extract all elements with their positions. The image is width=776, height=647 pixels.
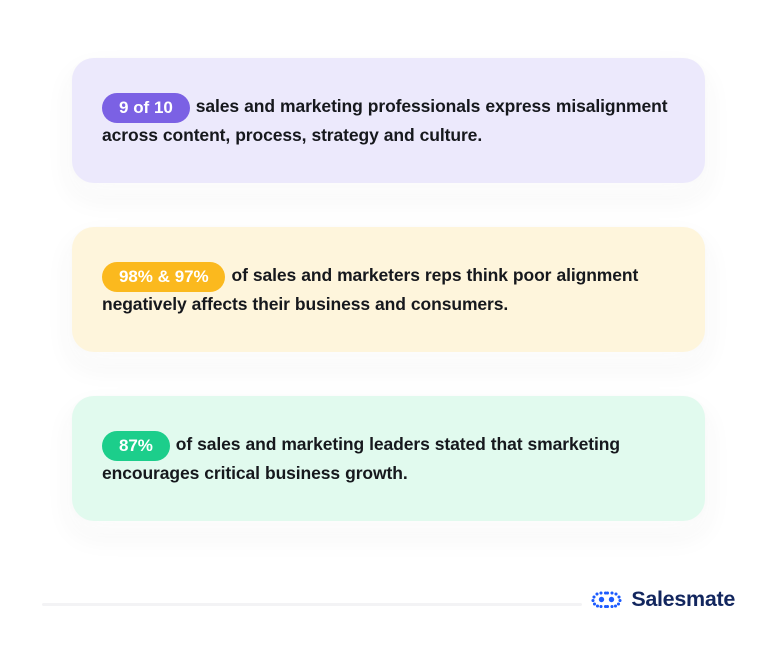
salesmate-dotted-link-icon [591, 589, 622, 610]
stat-badge-87: 87% [102, 431, 170, 461]
footer-divider [42, 603, 582, 606]
stat-card-text: 87%of sales and marketing leaders stated… [102, 430, 675, 487]
salesmate-wordmark: Salesmate [631, 589, 735, 611]
stat-badge-9-of-10: 9 of 10 [102, 93, 190, 123]
salesmate-brand-logo: Salesmate [591, 589, 735, 611]
page-footer: Salesmate [0, 557, 776, 647]
stat-card-body-text: of sales and marketing leaders stated th… [102, 434, 620, 483]
stat-card-98-and-97: 98% & 97%of sales and marketers reps thi… [72, 227, 705, 352]
stat-card-9-of-10: 9 of 10sales and marketing professionals… [72, 58, 705, 183]
page-canvas: 9 of 10sales and marketing professionals… [0, 0, 776, 647]
stat-card-87: 87%of sales and marketing leaders stated… [72, 396, 705, 521]
stat-card-text: 9 of 10sales and marketing professionals… [102, 92, 675, 149]
stat-card-text: 98% & 97%of sales and marketers reps thi… [102, 261, 675, 318]
stat-badge-98-and-97: 98% & 97% [102, 262, 225, 292]
stat-card-list: 9 of 10sales and marketing professionals… [72, 58, 705, 521]
